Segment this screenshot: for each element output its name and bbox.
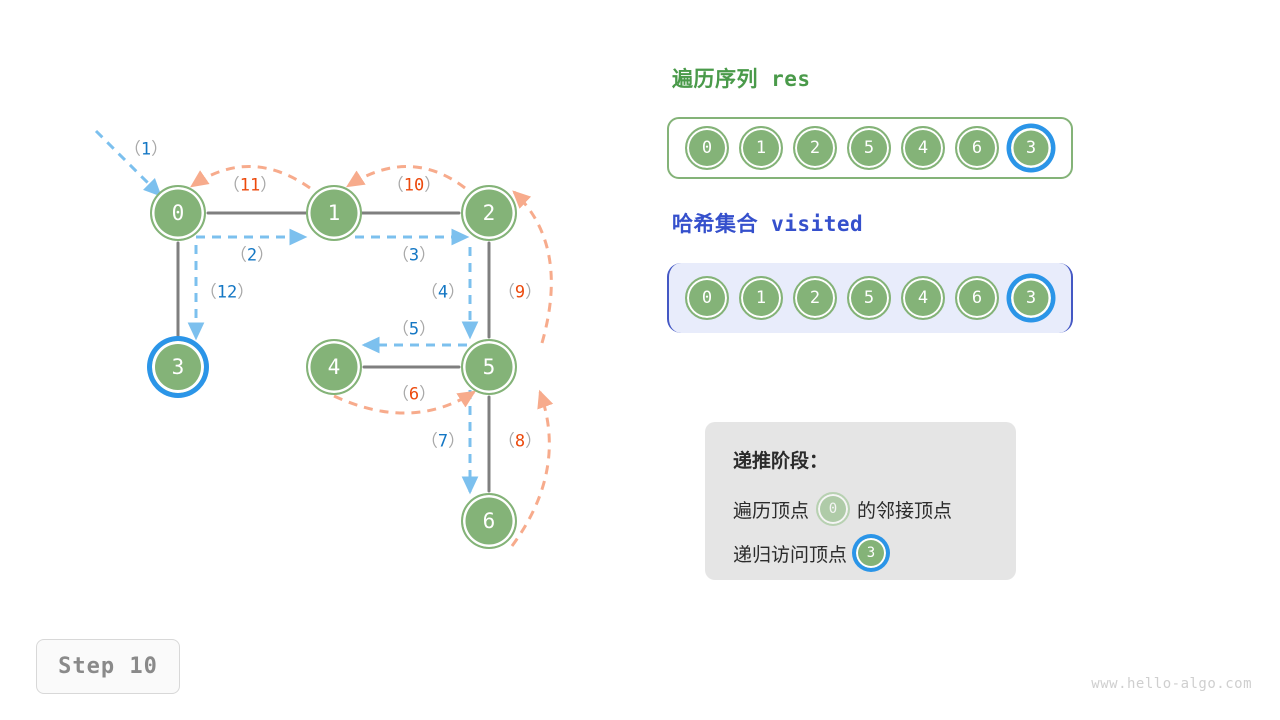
step-badge: Step 10 (36, 639, 180, 694)
paren-close: ） (448, 283, 465, 303)
step-label-5: （5） (392, 315, 436, 340)
res-chip-0-label: 0 (702, 138, 712, 158)
paren-close: ） (419, 385, 436, 405)
paren-close: ） (237, 283, 254, 303)
visited-chip-6[interactable]: 3 (1009, 276, 1053, 320)
paren-close: ） (419, 246, 436, 266)
graph-node-0-label: 0 (172, 201, 185, 225)
visited-chip-6-label: 3 (1026, 288, 1036, 308)
step-label-8-value: 8 (515, 432, 525, 452)
visited-chip-1-label: 1 (756, 288, 766, 308)
graph-node-5-label: 5 (483, 355, 496, 379)
res-chip-3-label: 5 (864, 138, 874, 158)
phase-info-line-2-prefix: 递归访问顶点 (733, 540, 847, 567)
step-label-1: （1） (124, 135, 168, 160)
visited-chip-5-label: 6 (972, 288, 982, 308)
paren-open: （ (230, 246, 247, 266)
visited-chip-5[interactable]: 6 (955, 276, 999, 320)
step-label-6-value: 6 (409, 385, 419, 405)
paren-open: （ (392, 320, 409, 340)
step-label-5-value: 5 (409, 320, 419, 340)
step-label-11: （11） (223, 171, 277, 196)
res-chip-2[interactable]: 2 (793, 126, 837, 170)
step-label-4-value: 4 (438, 283, 448, 303)
phase-info-line-1-chip-label: 0 (829, 501, 837, 517)
visited-chip-2[interactable]: 2 (793, 276, 837, 320)
paren-open: （ (392, 246, 409, 266)
paren-close: ） (151, 140, 168, 160)
step-label-9-value: 9 (515, 283, 525, 303)
visited-chip-3-label: 5 (864, 288, 874, 308)
graph-node-0[interactable]: 0 (150, 185, 206, 241)
step-label-10-value: 10 (404, 176, 424, 196)
paren-open: （ (200, 283, 217, 303)
visited-chip-4-label: 4 (918, 288, 928, 308)
res-chip-4[interactable]: 4 (901, 126, 945, 170)
step-label-12-value: 12 (217, 283, 237, 303)
res-chip-1-label: 1 (756, 138, 766, 158)
visited-chip-1[interactable]: 1 (739, 276, 783, 320)
graph-node-4-label: 4 (328, 355, 341, 379)
step-label-3: （3） (392, 241, 436, 266)
phase-info-line-1: 遍历顶点 0 的邻接顶点 (733, 487, 1016, 531)
res-chip-6[interactable]: 3 (1009, 126, 1053, 170)
paren-close: ） (424, 176, 441, 196)
res-chip-5-label: 6 (972, 138, 982, 158)
phase-info-line-1-chip: 0 (816, 492, 850, 526)
graph-node-2-label: 2 (483, 201, 496, 225)
visited-chip-0-label: 0 (702, 288, 712, 308)
res-chip-5[interactable]: 6 (955, 126, 999, 170)
paren-open: （ (421, 432, 438, 452)
watermark: www.hello-algo.com (1091, 676, 1252, 692)
graph-node-3[interactable]: 3 (150, 339, 206, 395)
res-chip-3[interactable]: 5 (847, 126, 891, 170)
graph-node-1-label: 1 (328, 201, 341, 225)
res-chip-4-label: 4 (918, 138, 928, 158)
visited-chip-0[interactable]: 0 (685, 276, 729, 320)
phase-info-box: 递推阶段： 遍历顶点 0 的邻接顶点 递归访问顶点 3 (705, 422, 1016, 580)
phase-info-line-1-suffix: 的邻接顶点 (857, 496, 952, 523)
res-sequence-box: 0 1 2 5 4 6 3 (667, 117, 1073, 179)
paren-open: （ (392, 385, 409, 405)
step-label-7: （7） (421, 427, 465, 452)
visited-chip-2-label: 2 (810, 288, 820, 308)
visited-chip-3[interactable]: 5 (847, 276, 891, 320)
graph-node-2[interactable]: 2 (461, 185, 517, 241)
step-label-10: （10） (387, 171, 441, 196)
res-chip-1[interactable]: 1 (739, 126, 783, 170)
visited-heading: 哈希集合 visited (672, 208, 863, 238)
paren-close: ） (525, 432, 542, 452)
graph-node-1[interactable]: 1 (306, 185, 362, 241)
step-label-6: （6） (392, 380, 436, 405)
res-chip-2-label: 2 (810, 138, 820, 158)
graph-panel: 0 1 2 3 4 5 6 （1） （2） （3） （4） （5） （6） （7… (0, 0, 640, 720)
step-label-12: （12） (200, 278, 254, 303)
right-panel: 遍历序列 res 0 1 2 5 4 6 3 哈希集合 visited 0 1 … (640, 0, 1280, 720)
phase-info-line-2: 递归访问顶点 3 (733, 531, 1016, 575)
res-chip-6-label: 3 (1026, 138, 1036, 158)
step-label-7-value: 7 (438, 432, 448, 452)
res-heading: 遍历序列 res (672, 63, 811, 93)
phase-info-line-2-chip-label: 3 (867, 545, 875, 561)
step-label-3-value: 3 (409, 246, 419, 266)
graph-node-4[interactable]: 4 (306, 339, 362, 395)
step-label-2-value: 2 (247, 246, 257, 266)
paren-open: （ (223, 176, 240, 196)
step-label-9: （9） (498, 278, 542, 303)
step-label-8: （8） (498, 427, 542, 452)
step-label-2: （2） (230, 241, 274, 266)
paren-close: ） (419, 320, 436, 340)
paren-close: ） (448, 432, 465, 452)
step-label-1-value: 1 (141, 140, 151, 160)
visited-set-box: 0 1 2 5 4 6 3 (667, 263, 1073, 333)
phase-info-line-2-chip: 3 (854, 536, 888, 570)
paren-open: （ (124, 140, 141, 160)
graph-node-5[interactable]: 5 (461, 339, 517, 395)
phase-info-title: 递推阶段： (733, 446, 1016, 473)
graph-node-6-label: 6 (483, 509, 496, 533)
paren-open: （ (498, 432, 515, 452)
phase-info-line-1-prefix: 遍历顶点 (733, 496, 809, 523)
visited-chip-4[interactable]: 4 (901, 276, 945, 320)
paren-close: ） (525, 283, 542, 303)
graph-node-6[interactable]: 6 (461, 493, 517, 549)
paren-open: （ (421, 283, 438, 303)
paren-open: （ (387, 176, 404, 196)
graph-node-3-label: 3 (172, 355, 185, 379)
res-chip-0[interactable]: 0 (685, 126, 729, 170)
paren-open: （ (498, 283, 515, 303)
step-label-4: （4） (421, 278, 465, 303)
step-label-11-value: 11 (240, 176, 260, 196)
paren-close: ） (257, 246, 274, 266)
paren-close: ） (260, 176, 277, 196)
